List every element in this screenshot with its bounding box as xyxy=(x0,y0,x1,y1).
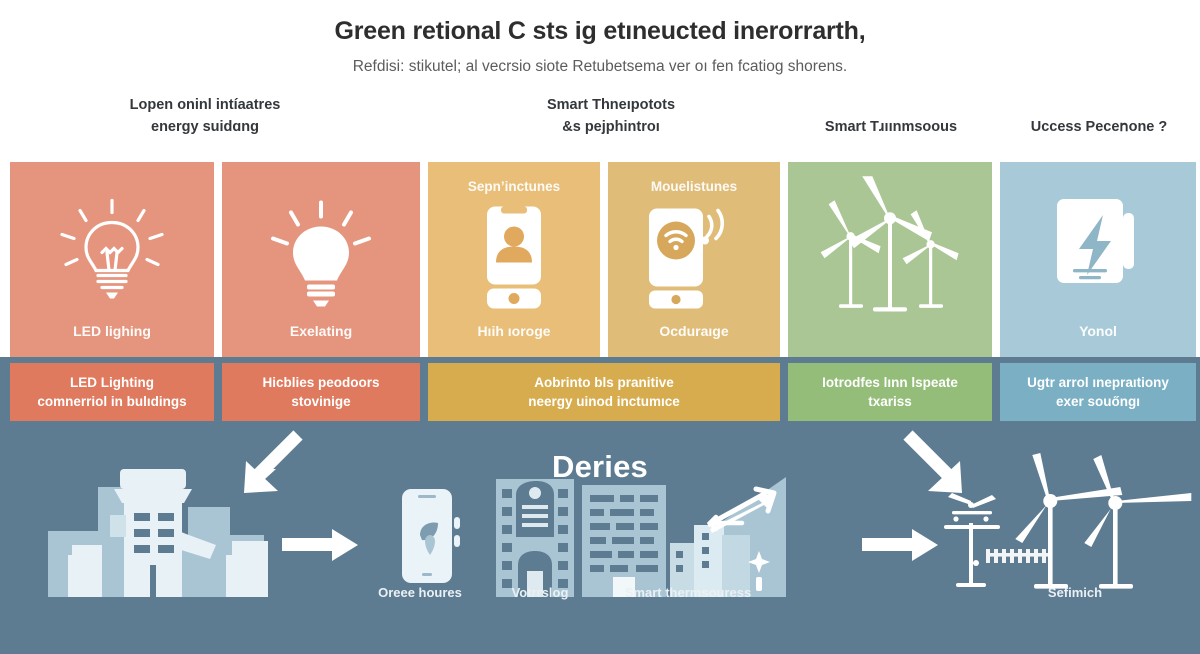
lightbulb-solid-icon xyxy=(261,192,381,317)
card-ocduraige-label: Ocduraıge xyxy=(608,323,780,339)
card-high-forogo[interactable]: Sepn’inctunes Hıih ıorogе xyxy=(428,162,600,357)
card-ocduraige[interactable]: Mouelistunes Ocduraıge xyxy=(608,162,780,357)
bottom-label-smart-thermsouress: Smart thermsouress xyxy=(588,585,788,600)
caption-led-lighting-line1: LED Lighting xyxy=(37,373,186,392)
office-building-a-icon xyxy=(496,479,574,597)
bottom-band: Deries xyxy=(0,427,1200,654)
page-header: Green retional C sts ig etıneucted inero… xyxy=(0,0,1200,90)
card-ocduraige-top-label: Mouelistunes xyxy=(608,179,780,194)
lightbulb-outline-icon xyxy=(52,192,172,317)
card-exelating[interactable]: Exelating xyxy=(222,162,420,357)
card-high-forogo-top-label: Sepn’inctunes xyxy=(428,179,600,194)
caption-hicblies: Hicblies peodoors stovinige xyxy=(222,363,420,421)
arrow-diagonal-left-icon xyxy=(228,427,308,512)
caption-led-lighting: LED Lighting comnerriol in bulıdings xyxy=(10,363,214,421)
section-heading-2-line2: &ѕ pejphintroı xyxy=(480,116,742,138)
section-heading-4-line1: Uccеss Peceոone ? xyxy=(998,116,1200,138)
office-building-b-icon xyxy=(582,485,666,597)
arrow-right-1-icon xyxy=(282,527,362,568)
page-title: Green retional C sts ig etıneucted inero… xyxy=(0,8,1200,48)
caption-hicblies-line2: stovinige xyxy=(262,392,379,411)
card-yonol[interactable]: Yonol xyxy=(1000,162,1196,357)
page-subtitle: Refdisi: stikutel; al vecrsio siote Retu… xyxy=(0,48,1200,78)
caption-iotrodfes: Iotrodfes lınn lspeate txariss xyxy=(788,363,992,421)
caption-strip: LED Lighting comnerriol in bulıdings Hic… xyxy=(0,357,1200,427)
section-heading-2: Smart Thnеıpotots &ѕ pejphintroı xyxy=(480,94,742,138)
card-led-lighting-label: LED lighing xyxy=(10,323,214,339)
growth-chart-icon xyxy=(670,477,786,597)
caption-aobrinto-line1: Aobrinto bls pranitive xyxy=(528,373,680,392)
section-heading-3-line1: Smart Tɹıınmsoous xyxy=(790,116,992,138)
battery-bolt-icon xyxy=(1043,191,1153,306)
card-led-lighting[interactable]: LED lighing xyxy=(10,162,214,357)
caption-hicblies-line1: Hicblies peodoors xyxy=(262,373,379,392)
wind-turbines-icon xyxy=(805,176,975,331)
section-heading-3: Smart Tɹıınmsoous xyxy=(790,116,992,138)
phone-leaf-icon xyxy=(402,489,460,583)
caption-led-lighting-line2: comnerriol in bulıdings xyxy=(37,392,186,411)
caption-aobrinto-line2: neergy uinod inctumıce xyxy=(528,392,680,411)
caption-iotrodfes-line2: txariss xyxy=(822,392,958,411)
caption-ugtr: Ugtr arrol ınepraıtiony exer souőngı xyxy=(1000,363,1196,421)
card-wind-farm[interactable] xyxy=(788,162,992,357)
caption-iotrodfes-line1: Iotrodfes lınn lspeate xyxy=(822,373,958,392)
smartphone-person-icon xyxy=(471,204,557,315)
card-high-forogo-label: Hıih ıorogе xyxy=(428,323,600,339)
section-heading-1: Lopen oninl intíaatres energy suidɑng xyxy=(62,94,348,138)
section-heading-1-line1: Lopen oninl intíaatres xyxy=(62,94,348,116)
caption-ugtr-line1: Ugtr arrol ınepraıtiony xyxy=(1027,373,1169,392)
section-heading-1-line2: energy suidɑng xyxy=(62,116,348,138)
section-heading-2-line1: Smart Thnеıpotots xyxy=(480,94,742,116)
card-strip: LED lighing Exelating Sepn’inctunes xyxy=(0,162,1200,357)
caption-aobrinto: Aobrinto bls pranitive neergy uinod inct… xyxy=(428,363,780,421)
card-exelating-label: Exelating xyxy=(222,323,420,339)
section-headings-row: Lopen oninl intíaatres energy suidɑng S… xyxy=(0,90,1200,162)
bottom-label-sefimich: Sefimich xyxy=(990,585,1160,600)
middle-icons-group xyxy=(370,467,790,602)
section-heading-4: Uccеss Peceոone ? xyxy=(998,116,1200,138)
smartphone-wifi-icon xyxy=(639,204,749,315)
card-yonol-label: Yonol xyxy=(1000,323,1196,339)
caption-ugtr-line2: exer souőngı xyxy=(1027,392,1169,411)
